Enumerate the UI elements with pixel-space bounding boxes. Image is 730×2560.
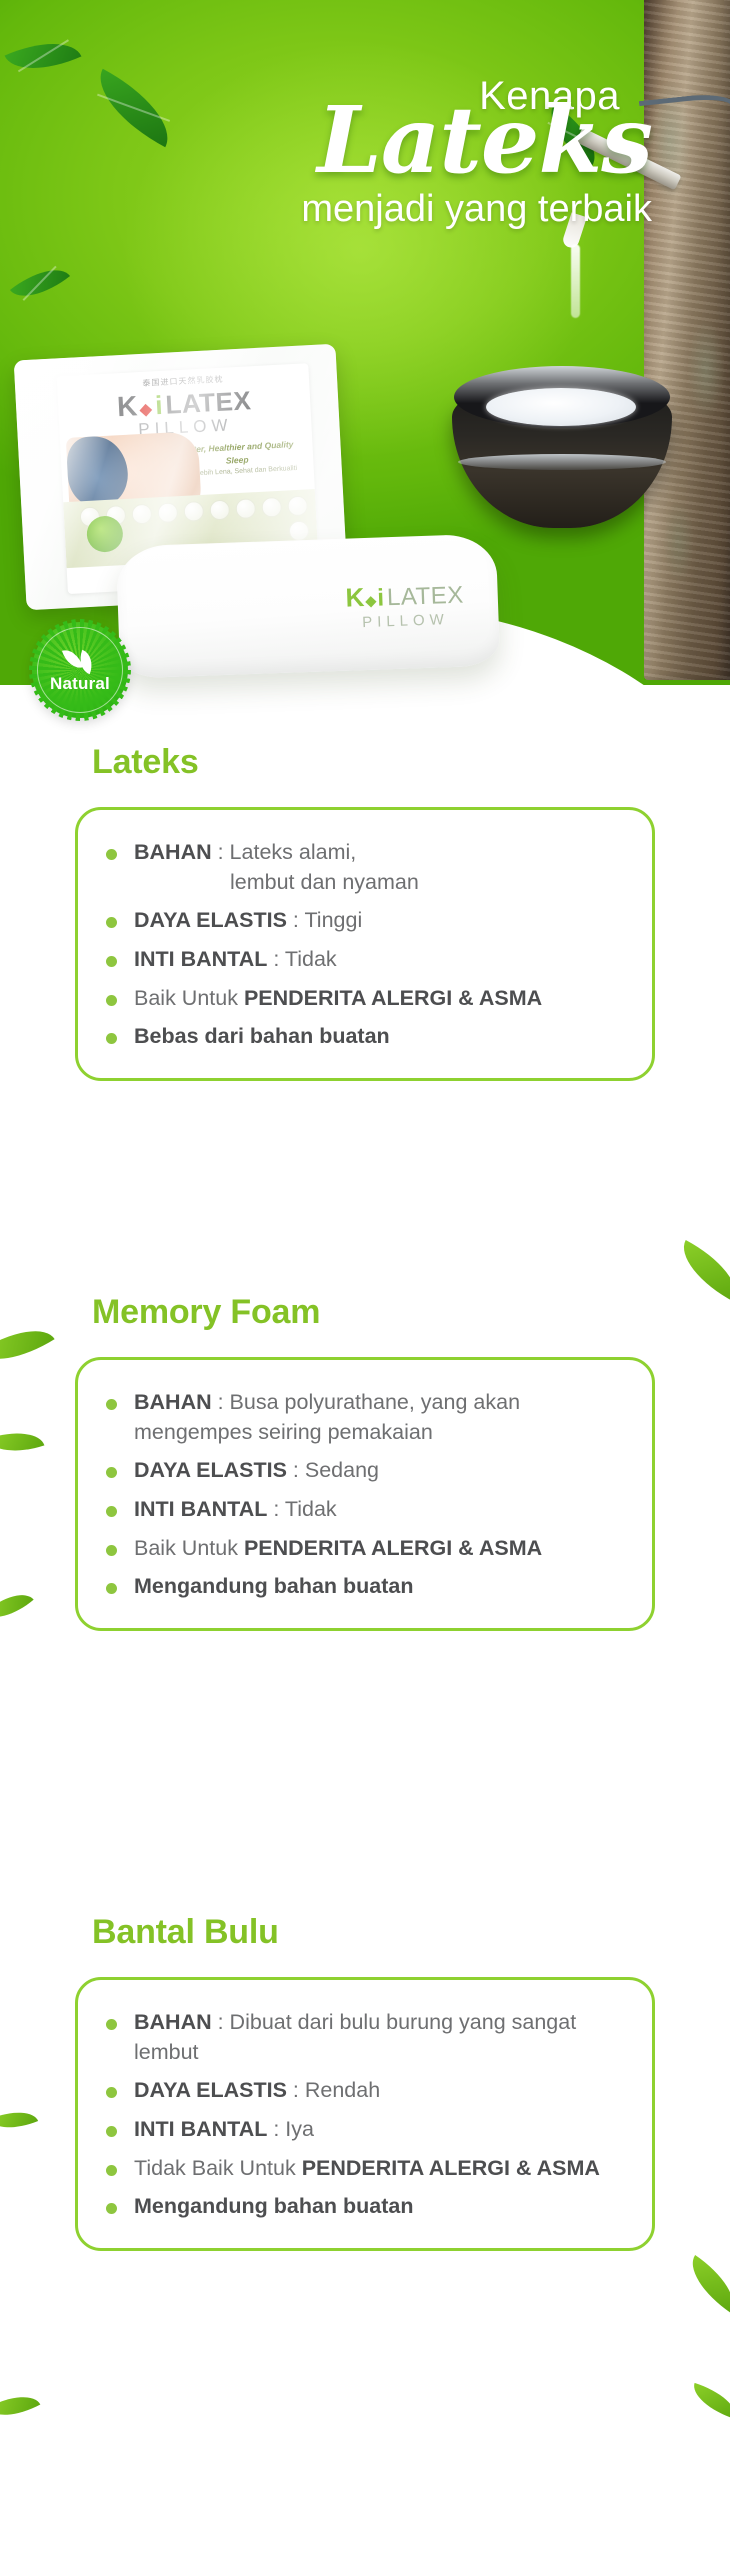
natural-badge: Natural (32, 622, 128, 718)
list-item-label: DAYA ELASTIS (134, 1458, 287, 1482)
feature-list: BAHAN : Busa polyurathane, yang akan men… (100, 1388, 622, 1602)
list-item: DAYA ELASTIS : Sedang (100, 1456, 622, 1486)
brand-letter-i: i (377, 584, 385, 612)
brand-letter-k: K (345, 582, 364, 614)
hero-banner: Kenapa Lateks menjadi yang terbaik 泰国进口天… (0, 0, 730, 745)
brand-word-latex: LATEX (387, 582, 465, 613)
product-pillow-image: K i LATEX PILLOW (116, 533, 500, 678)
list-item: BAHAN : Dibuat dari bulu burung yang san… (100, 2008, 622, 2067)
leaf-icon (679, 2255, 730, 2313)
comparison-card: BAHAN : Busa polyurathane, yang akan men… (75, 1357, 655, 1631)
leaf-icon (63, 648, 97, 674)
list-item-label: PENDERITA ALERGI & ASMA (302, 2156, 600, 2180)
hero-title: Lateks (0, 98, 652, 183)
list-item: DAYA ELASTIS : Rendah (100, 2076, 622, 2106)
list-item-label: INTI BANTAL (134, 1497, 267, 1521)
feature-list: BAHAN : Dibuat dari bulu burung yang san… (100, 2008, 622, 2222)
list-item: BAHAN : Lateks alami,lembut dan nyaman (100, 838, 622, 897)
list-item: Tidak Baik Untuk PENDERITA ALERGI & ASMA (100, 2154, 622, 2184)
list-item: Bebas dari bahan buatan (100, 1022, 622, 1052)
section-title: Lateks (92, 745, 730, 779)
hero-subtitle: menjadi yang terbaik (0, 189, 652, 231)
list-item-label: BAHAN (134, 1390, 212, 1414)
list-item-label: INTI BANTAL (134, 947, 267, 971)
list-item-label: Mengandung bahan buatan (134, 1574, 414, 1598)
section-lateks: Lateks BAHAN : Lateks alami,lembut dan n… (0, 745, 730, 1081)
feature-list: BAHAN : Lateks alami,lembut dan nyamanDA… (100, 838, 622, 1052)
brand-diamond-icon (365, 596, 376, 607)
leaf-icon (671, 1240, 730, 1302)
leaf-icon (0, 2385, 40, 2427)
list-item: Baik Untuk PENDERITA ALERGI & ASMA (100, 1534, 622, 1564)
list-item-label: PENDERITA ALERGI & ASMA (244, 1536, 542, 1560)
latex-drip (571, 244, 580, 318)
list-item: Mengandung bahan buatan (100, 1572, 622, 1602)
pillow-brand-logo: K i LATEX PILLOW (345, 579, 465, 632)
hero-headline: Kenapa Lateks menjadi yang terbaik (0, 76, 680, 230)
list-item-label: INTI BANTAL (134, 2117, 267, 2141)
list-item: INTI BANTAL : Iya (100, 2115, 622, 2145)
list-item: DAYA ELASTIS : Tinggi (100, 906, 622, 936)
list-item: INTI BANTAL : Tidak (100, 1495, 622, 1525)
list-item: Baik Untuk PENDERITA ALERGI & ASMA (100, 984, 622, 1014)
list-item-value-line2: lembut dan nyaman (134, 868, 622, 898)
leaf-icon (688, 2383, 730, 2419)
list-item-label: DAYA ELASTIS (134, 2078, 287, 2102)
comparison-card: BAHAN : Dibuat dari bulu burung yang san… (75, 1977, 655, 2251)
brand-word-pillow: PILLOW (346, 611, 465, 632)
natural-badge-label: Natural (50, 675, 110, 692)
list-item-label: BAHAN (134, 2010, 212, 2034)
comparison-card: BAHAN : Lateks alami,lembut dan nyamanDA… (75, 807, 655, 1081)
section-title: Bantal Bulu (92, 1915, 730, 1949)
list-item-label: Mengandung bahan buatan (134, 2194, 414, 2218)
list-item: INTI BANTAL : Tidak (100, 945, 622, 975)
list-item-label: Bebas dari bahan buatan (134, 1024, 390, 1048)
latex-liquid (486, 388, 636, 426)
latex-collection-bowl (452, 366, 672, 536)
section-memory-foam: Memory Foam BAHAN : Busa polyurathane, y… (0, 1295, 730, 1631)
list-item-label: BAHAN (134, 840, 212, 864)
section-bantal-bulu: Bantal Bulu BAHAN : Dibuat dari bulu bur… (0, 1915, 730, 2251)
list-item: Mengandung bahan buatan (100, 2192, 622, 2222)
section-title: Memory Foam (92, 1295, 730, 1329)
list-item-label: PENDERITA ALERGI & ASMA (244, 986, 542, 1010)
list-item: BAHAN : Busa polyurathane, yang akan men… (100, 1388, 622, 1447)
list-item-label: DAYA ELASTIS (134, 908, 287, 932)
